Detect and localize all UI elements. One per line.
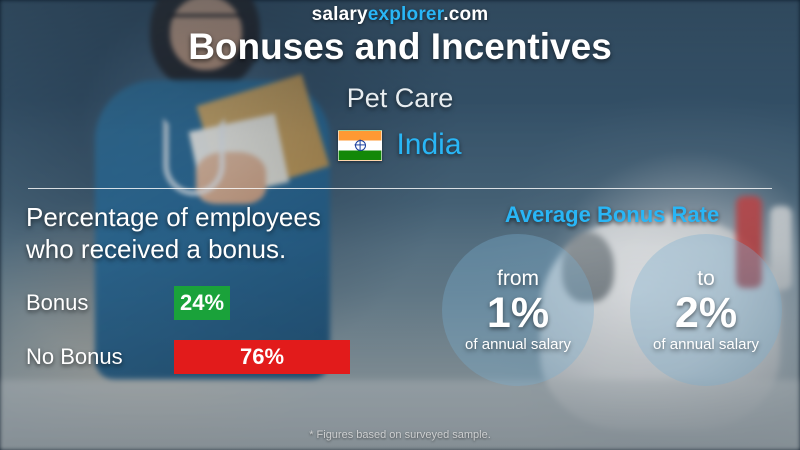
- india-flag-icon: [338, 130, 382, 161]
- left-heading-line1: Percentage of employees: [26, 202, 446, 234]
- ashoka-chakra-icon: [355, 140, 366, 151]
- bonus-rate-to-label: to: [697, 267, 715, 291]
- average-bonus-rate-panel: Average Bonus Rate from 1% of annual sal…: [442, 202, 782, 386]
- left-heading-line2: who received a bonus.: [26, 234, 446, 266]
- chart-bar-no-bonus: 76%: [174, 340, 350, 374]
- bonus-rate-to-note: of annual salary: [653, 336, 759, 353]
- bonus-rate-from: from 1% of annual salary: [442, 234, 594, 386]
- chart-label-bonus: Bonus: [26, 290, 174, 316]
- bonus-rate-from-note: of annual salary: [465, 336, 571, 353]
- brand-part-salary: salary: [312, 4, 368, 25]
- chart-row-no-bonus: No Bonus 76%: [26, 340, 406, 374]
- chart-row-bonus: Bonus 24%: [26, 286, 406, 320]
- bonus-rate-to: to 2% of annual salary: [630, 234, 782, 386]
- foreground-content: salaryexplorer.com Bonuses and Incentive…: [0, 0, 800, 450]
- brand-part-tld: .com: [443, 4, 488, 25]
- footnote: * Figures based on surveyed sample.: [0, 429, 800, 441]
- chart-value-no-bonus: 76%: [174, 344, 350, 370]
- chart-value-bonus: 24%: [174, 290, 230, 316]
- bonus-rate-circles: from 1% of annual salary to 2% of annual…: [442, 234, 782, 386]
- site-brand: salaryexplorer.com: [0, 4, 800, 26]
- country-row: India: [0, 128, 800, 162]
- section-divider: [28, 188, 772, 189]
- page-title: Bonuses and Incentives: [0, 26, 800, 68]
- country-label: India: [396, 128, 461, 162]
- bonus-bar-chart: Bonus 24% No Bonus 76%: [26, 286, 406, 394]
- chart-bar-bonus: 24%: [174, 286, 230, 320]
- chart-track-no-bonus: 76%: [174, 340, 406, 374]
- bonus-rate-from-value: 1%: [487, 291, 549, 336]
- brand-part-explorer: explorer: [368, 4, 444, 25]
- page-subtitle: Pet Care: [0, 83, 800, 114]
- chart-label-no-bonus: No Bonus: [26, 344, 174, 370]
- chart-track-bonus: 24%: [174, 286, 406, 320]
- bonus-rate-to-value: 2%: [675, 291, 737, 336]
- left-heading: Percentage of employees who received a b…: [26, 202, 446, 265]
- average-bonus-rate-title: Average Bonus Rate: [442, 202, 782, 228]
- infographic-root: salaryexplorer.com Bonuses and Incentive…: [0, 0, 800, 450]
- bonus-rate-from-label: from: [497, 267, 539, 291]
